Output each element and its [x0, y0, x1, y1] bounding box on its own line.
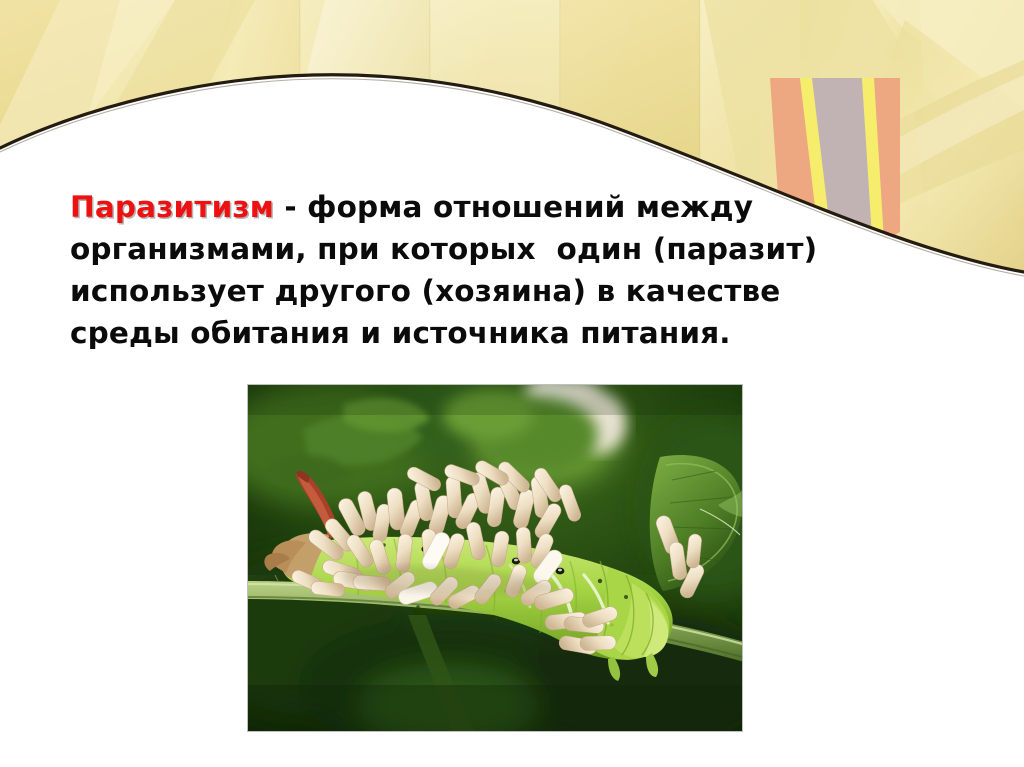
keyword-parasitism: Паразитизм [70, 190, 274, 224]
text-line-1: Паразитизм - форма отношений между [70, 186, 900, 228]
band-fold-right-b [860, 0, 1024, 120]
text-line-1-rest: - форма отношений между [274, 190, 753, 224]
photo-bottom-shade [248, 685, 742, 731]
caterpillar-with-parasitoid-cocoons-photo [248, 385, 742, 731]
presentation-slide: Паразитизм - форма отношений между орган… [0, 0, 1024, 767]
text-line-3: использует другого (хозяина) в качестве [70, 270, 900, 312]
photo-top-shade [248, 385, 742, 415]
text-line-2: организмами, при которых один (паразит) [70, 228, 900, 270]
photo-graphic [248, 385, 742, 731]
slide-text-block: Паразитизм - форма отношений между орган… [70, 186, 900, 354]
band-panel-9 [920, 0, 1024, 290]
text-line-4: среды обитания и источника питания. [70, 312, 900, 354]
